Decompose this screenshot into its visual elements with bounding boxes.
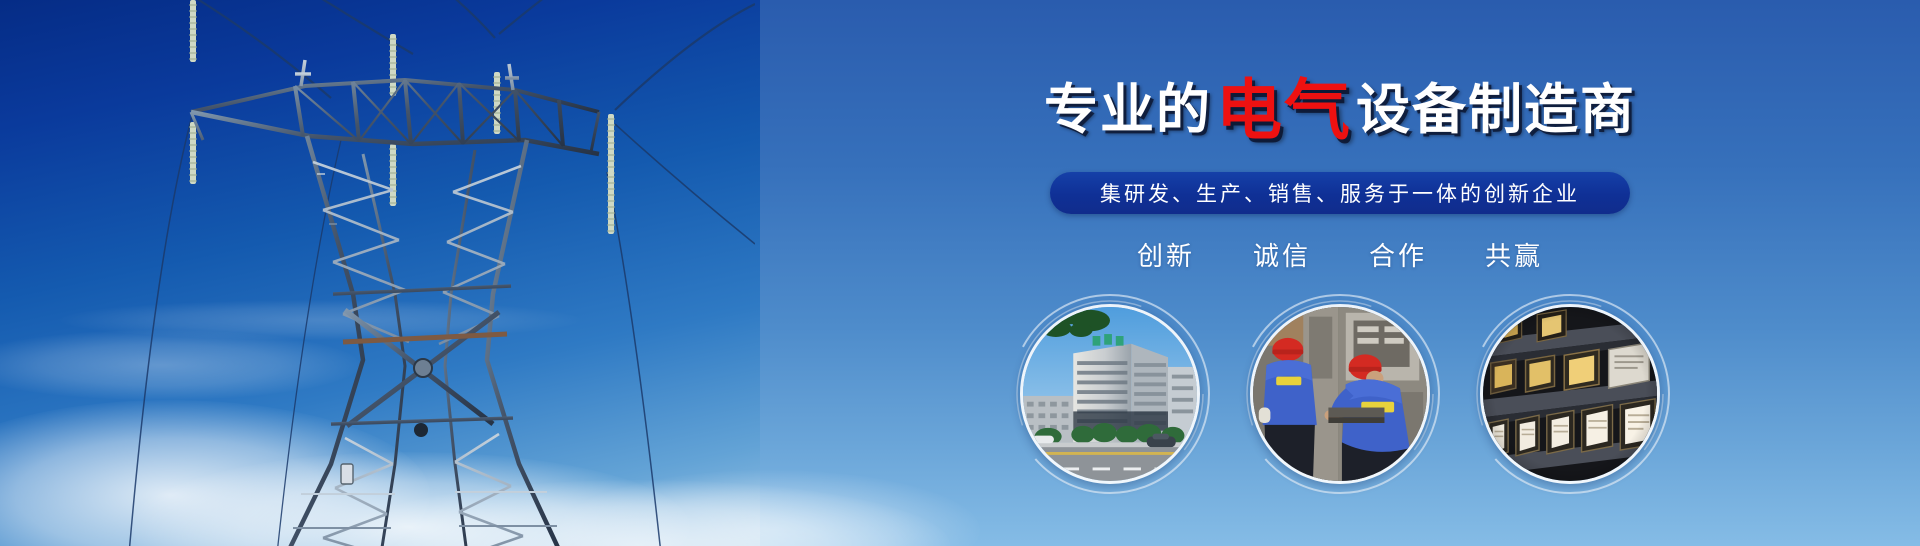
keyword-innovation: 创新 xyxy=(1137,236,1195,273)
tagline-text: 集研发、生产、销售、服务于一体的创新企业 xyxy=(1100,178,1580,208)
keyword-list: 创新 诚信 合作 共赢 xyxy=(1137,236,1543,273)
photo-item-office-building[interactable] xyxy=(1015,299,1205,489)
photo-certificate-wall xyxy=(1480,304,1660,484)
banner-content: 专业的电气设备制造商 集研发、生产、销售、服务于一体的创新企业 创新 诚信 合作… xyxy=(760,0,1920,546)
photo-item-certificates[interactable] xyxy=(1475,299,1665,489)
keyword-winwin: 共赢 xyxy=(1485,236,1543,273)
transmission-tower-image xyxy=(95,0,755,546)
photo-item-workers[interactable] xyxy=(1245,299,1435,489)
headline: 专业的电气设备制造商 xyxy=(1044,72,1636,138)
photo-workers-installation xyxy=(1250,304,1430,484)
photo-gallery xyxy=(1015,299,1665,489)
promotional-banner: 专业的电气设备制造商 集研发、生产、销售、服务于一体的创新企业 创新 诚信 合作… xyxy=(0,0,1920,546)
tagline-pill: 集研发、生产、销售、服务于一体的创新企业 xyxy=(1050,172,1630,214)
keyword-cooperation: 合作 xyxy=(1369,236,1427,273)
headline-part-2: 设备制造商 xyxy=(1356,80,1636,140)
headline-part-1: 专业的 xyxy=(1044,80,1212,140)
photo-office-building xyxy=(1020,304,1200,484)
keyword-integrity: 诚信 xyxy=(1253,236,1311,273)
headline-highlight: 电气 xyxy=(1216,73,1352,147)
